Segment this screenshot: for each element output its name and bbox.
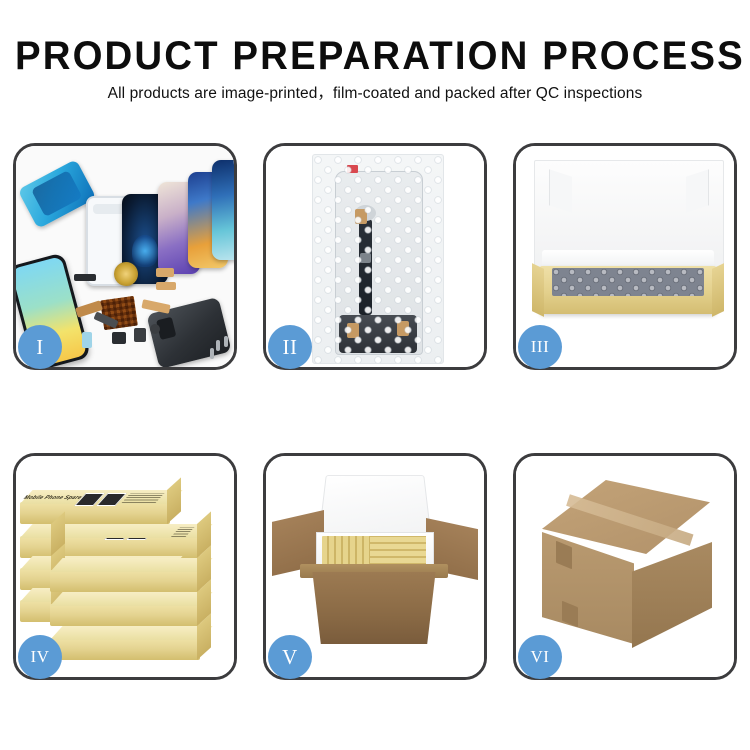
retail-box-top-left: Mobile Phone Spare Parts	[20, 502, 170, 524]
cyan-phone-display-icon	[212, 160, 234, 260]
lid-flap-right	[686, 169, 709, 212]
step-badge-4: IV	[18, 635, 62, 679]
bubble-texture	[313, 155, 443, 363]
part-module-a-icon	[112, 332, 126, 344]
blue-screen-protector-icon	[18, 159, 97, 229]
screw-icon-3	[210, 348, 214, 359]
carton-side-face	[632, 542, 712, 648]
process-step-panel-1: I	[13, 143, 237, 370]
step-badge-1-numeral: I	[36, 335, 44, 360]
bubble-wrap-bag	[312, 154, 444, 364]
screw-icon-2	[224, 336, 228, 347]
lid-flap-left	[549, 169, 572, 212]
retail-box-row-4	[50, 604, 200, 626]
step-badge-1: I	[18, 325, 62, 369]
process-step-panel-6: VI	[513, 453, 737, 680]
step-badge-3-numeral: III	[531, 337, 549, 357]
retail-box-left-2	[20, 536, 54, 558]
part-camera-icon	[150, 324, 160, 334]
step-badge-5-numeral: V	[282, 645, 298, 670]
part-speaker-icon	[74, 274, 96, 281]
step-badge-2-numeral: II	[283, 335, 298, 360]
part-glass-strip-icon	[82, 332, 92, 348]
part-module-b-icon	[134, 328, 146, 342]
step-badge-4-numeral: IV	[31, 647, 50, 667]
retail-box-row-3	[50, 570, 200, 592]
part-flex-b-icon	[156, 282, 176, 290]
step-badge-6: VI	[518, 635, 562, 679]
retail-box-left-4	[20, 600, 54, 622]
step-badge-5: V	[268, 635, 312, 679]
process-step-panel-3: III	[513, 143, 737, 370]
step-badge-2: II	[268, 325, 312, 369]
process-step-panel-2: II	[263, 143, 487, 370]
step-badge-3: III	[518, 325, 562, 369]
retail-box-row-5	[50, 638, 200, 660]
step-badge-6-numeral: VI	[531, 647, 550, 667]
page-title: PRODUCT PREPARATION PROCESS	[15, 34, 735, 78]
retail-box-top-right: Mobile Phone Spare Parts	[50, 536, 200, 558]
product-preparation-infographic: PRODUCT PREPARATION PROCESS All products…	[0, 0, 750, 750]
process-step-panel-5: V	[263, 453, 487, 680]
process-step-panel-4: Mobile Phone Spare Parts Mobile Phone Sp…	[13, 453, 237, 680]
screw-icon-1	[216, 340, 220, 351]
part-flex-a-icon	[156, 268, 174, 277]
carton-body	[304, 572, 444, 644]
page-subtitle: All products are image-printed，film-coat…	[0, 84, 750, 104]
chip-grid-icon	[100, 296, 138, 330]
copper-coil-icon	[114, 262, 138, 286]
grey-bubble-wrapped-contents	[552, 268, 704, 296]
header: PRODUCT PREPARATION PROCESS All products…	[0, 34, 750, 104]
process-step-grid: I II	[13, 143, 737, 680]
